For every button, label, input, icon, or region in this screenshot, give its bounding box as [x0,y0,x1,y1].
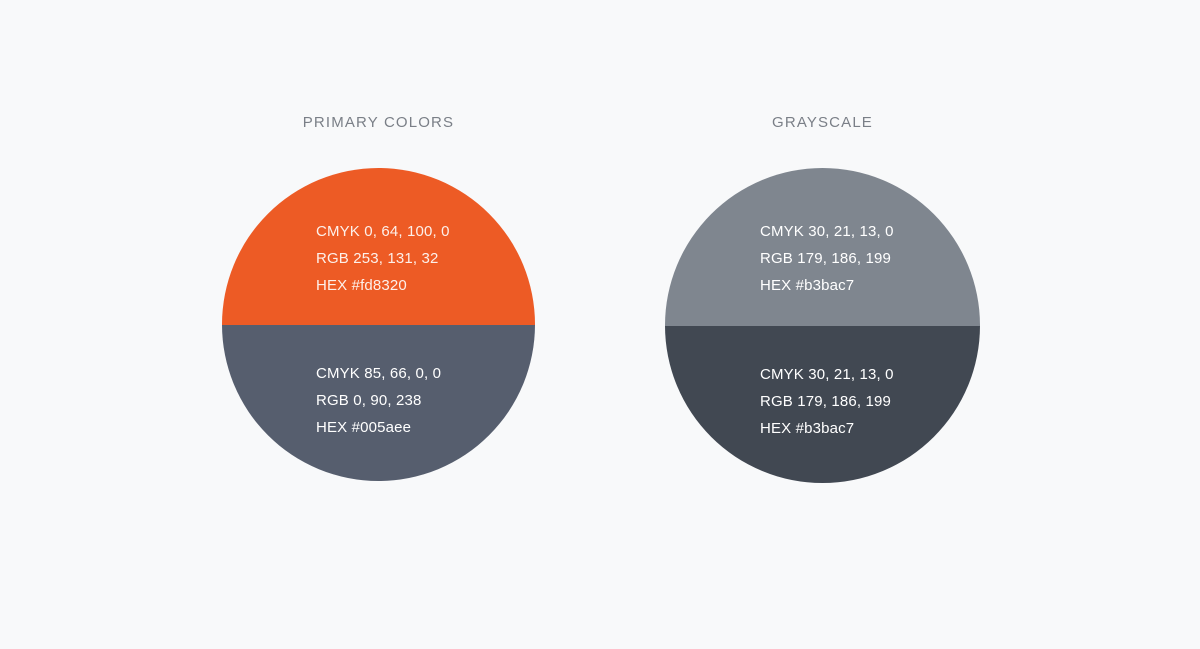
swatch-cmyk-value: CMYK 30, 21, 13, 0 [760,218,894,245]
palette-group-title-grayscale: GRAYSCALE [665,115,980,130]
swatch-cmyk-value: CMYK 0, 64, 100, 0 [316,218,450,245]
color-swatch-gray-dark[interactable]: CMYK 30, 21, 13, 0 RGB 179, 186, 199 HEX… [665,326,980,484]
swatch-rgb-value: RGB 179, 186, 199 [760,245,894,272]
swatch-hex-value: HEX #fd8320 [316,272,450,299]
swatch-values-primary-blue: CMYK 85, 66, 0, 0 RGB 0, 90, 238 HEX #00… [316,360,441,441]
swatch-hex-value: HEX #b3bac7 [760,415,894,442]
swatch-rgb-value: RGB 253, 131, 32 [316,245,450,272]
swatch-values-primary-orange: CMYK 0, 64, 100, 0 RGB 253, 131, 32 HEX … [316,218,450,299]
palette-group-title-primary-colors: PRIMARY COLORS [222,115,535,130]
swatch-hex-value: HEX #b3bac7 [760,272,894,299]
color-palette-board: PRIMARY COLORS CMYK 0, 64, 100, 0 RGB 25… [0,0,1200,649]
swatch-hex-value: HEX #005aee [316,414,441,441]
swatch-values-gray-light: CMYK 30, 21, 13, 0 RGB 179, 186, 199 HEX… [760,218,894,299]
color-swatch-primary-orange[interactable]: CMYK 0, 64, 100, 0 RGB 253, 131, 32 HEX … [222,168,535,325]
swatch-circle-grayscale: CMYK 30, 21, 13, 0 RGB 179, 186, 199 HEX… [665,168,980,483]
color-swatch-gray-light[interactable]: CMYK 30, 21, 13, 0 RGB 179, 186, 199 HEX… [665,168,980,326]
color-swatch-primary-blue[interactable]: CMYK 85, 66, 0, 0 RGB 0, 90, 238 HEX #00… [222,325,535,482]
swatch-cmyk-value: CMYK 85, 66, 0, 0 [316,360,441,387]
swatch-rgb-value: RGB 179, 186, 199 [760,388,894,415]
swatch-circle-primary-colors: CMYK 0, 64, 100, 0 RGB 253, 131, 32 HEX … [222,168,535,481]
swatch-rgb-value: RGB 0, 90, 238 [316,387,441,414]
swatch-values-gray-dark: CMYK 30, 21, 13, 0 RGB 179, 186, 199 HEX… [760,361,894,442]
swatch-cmyk-value: CMYK 30, 21, 13, 0 [760,361,894,388]
